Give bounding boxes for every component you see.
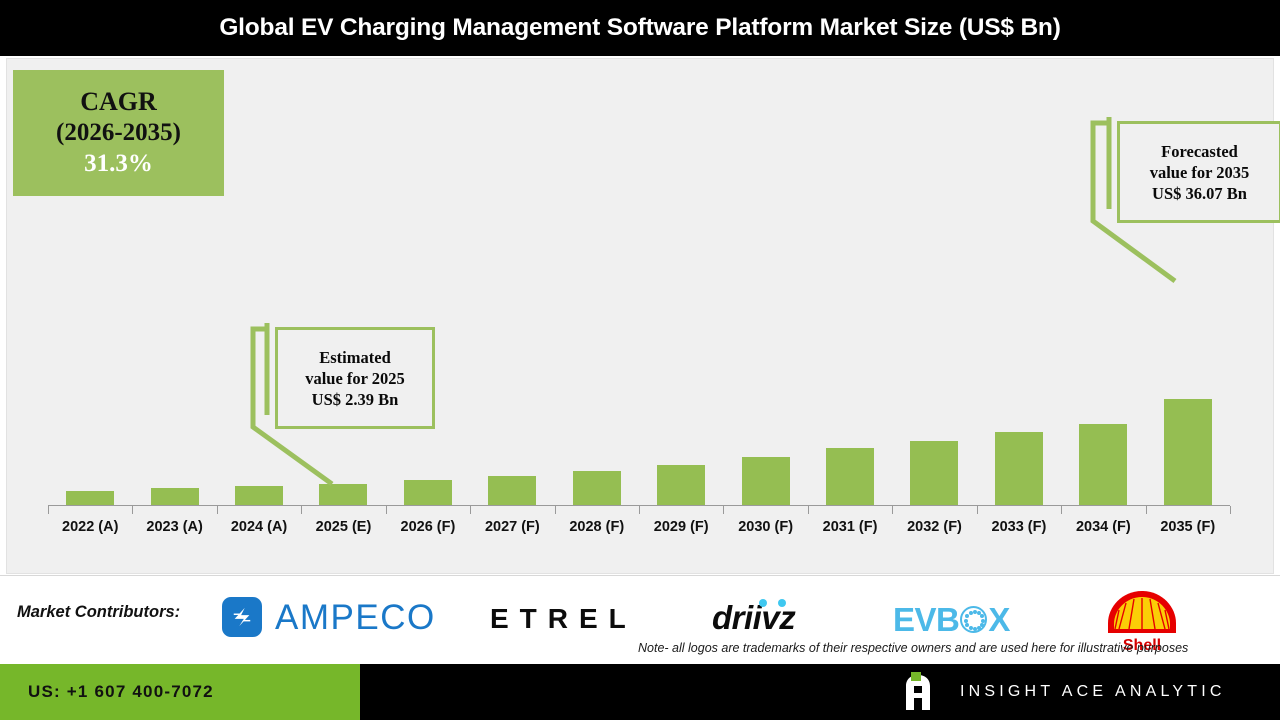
- x-axis-label: 2028 (F): [555, 519, 639, 535]
- callout-forecasted-line2: value for 2035: [1150, 162, 1250, 183]
- bar-slot: [132, 59, 216, 505]
- x-axis-label: 2031 (F): [808, 519, 892, 535]
- x-axis-label: 2024 (A): [217, 519, 301, 535]
- callout-forecasted-box: Forecasted value for 2035 US$ 36.07 Bn: [1117, 121, 1280, 223]
- lightning-bolt-icon: [222, 597, 262, 637]
- phone-number: US: +1 607 400-7072: [28, 682, 214, 702]
- bar-2028[interactable]: [573, 471, 621, 505]
- evbox-ring-dot: [980, 614, 984, 618]
- bar-2034[interactable]: [1079, 424, 1127, 505]
- x-axis-tick: [723, 506, 724, 514]
- logo-driivz-text: driivz: [712, 601, 795, 634]
- shell-pecten-icon: [1104, 589, 1180, 639]
- evbox-ring-dot: [964, 619, 968, 623]
- evbox-ring-dot: [973, 627, 977, 631]
- x-axis-tick: [132, 506, 133, 514]
- evbox-ring-dot: [981, 619, 985, 623]
- callout-forecasted-line3: US$ 36.07 Bn: [1152, 183, 1247, 204]
- bar-2022[interactable]: [66, 491, 114, 505]
- evbox-ring-dot: [977, 626, 981, 630]
- x-axis-label: 2027 (F): [470, 519, 554, 535]
- x-axis-tick: [892, 506, 893, 514]
- phone-block[interactable]: US: +1 607 400-7072: [0, 664, 360, 720]
- x-axis-label: 2034 (F): [1061, 519, 1145, 535]
- x-axis-labels: 2022 (A)2023 (A)2024 (A)2025 (E)2026 (F)…: [48, 519, 1230, 553]
- brand-a-glyph: [898, 672, 938, 712]
- x-axis-tick: [470, 506, 471, 514]
- x-axis-tick: [301, 506, 302, 514]
- x-axis-label: 2035 (F): [1146, 519, 1230, 535]
- logo-evbox-text: EVB X: [893, 603, 1010, 636]
- logo-evbox-suffix: X: [988, 603, 1010, 636]
- logo-driivz: driivz: [712, 601, 795, 634]
- bar-2024[interactable]: [235, 486, 283, 505]
- evbox-ring-dot: [969, 611, 973, 615]
- x-axis-tick: [1061, 506, 1062, 514]
- x-axis-tick: [1146, 506, 1147, 514]
- bar-2030[interactable]: [742, 457, 790, 505]
- bar-slot: [892, 59, 976, 505]
- bar-slot: [723, 59, 807, 505]
- bar-slot: [470, 59, 554, 505]
- x-axis-label: 2026 (F): [386, 519, 470, 535]
- insight-ace-logo-icon: [898, 672, 938, 712]
- evbox-dot-ring-icon: [960, 606, 987, 633]
- bar-2027[interactable]: [488, 476, 536, 505]
- callout-estimated-line1: Estimated: [319, 347, 391, 368]
- logo-evbox-prefix: EVB: [893, 603, 959, 636]
- x-axis-label: 2025 (E): [301, 519, 385, 535]
- bar-slot: [977, 59, 1061, 505]
- bar-slot: [808, 59, 892, 505]
- evbox-ring-dot: [969, 626, 973, 630]
- callout-forecasted-line1: Forecasted: [1161, 141, 1238, 162]
- x-axis-tick: [555, 506, 556, 514]
- logo-etrel: ETREL: [490, 605, 637, 633]
- bar-2032[interactable]: [910, 441, 958, 505]
- logo-etrel-text: ETREL: [490, 605, 637, 633]
- x-axis-tick: [386, 506, 387, 514]
- callout-estimated-line2: value for 2025: [305, 368, 405, 389]
- evbox-ring-dot: [980, 623, 984, 627]
- bar-series: [48, 59, 1230, 505]
- x-axis-label: 2029 (F): [639, 519, 723, 535]
- chart-panel: CAGR (2026-2035) 31.3% 2022 (A)2023 (A)2…: [6, 58, 1274, 574]
- x-axis-label: 2022 (A): [48, 519, 132, 535]
- evbox-ring-dot: [965, 614, 969, 618]
- callout-estimated-box: Estimated value for 2025 US$ 2.39 Bn: [275, 327, 435, 429]
- bar-2031[interactable]: [826, 448, 874, 505]
- trademark-note: Note- all logos are trademarks of their …: [638, 641, 1188, 655]
- bar-2023[interactable]: [151, 488, 199, 505]
- x-axis-tick: [217, 506, 218, 514]
- brand-block: INSIGHT ACE ANALYTIC: [898, 664, 1226, 720]
- brand-name: INSIGHT ACE ANALYTIC: [960, 683, 1226, 701]
- logo-ampeco: AMPECO: [222, 597, 436, 637]
- x-axis-tick: [977, 506, 978, 514]
- driivz-dot-1: [759, 599, 767, 607]
- title-bar: Global EV Charging Management Software P…: [0, 0, 1280, 56]
- bar-2029[interactable]: [657, 465, 705, 505]
- x-axis-tick: [639, 506, 640, 514]
- x-axis-label: 2023 (A): [132, 519, 216, 535]
- x-axis-label: 2030 (F): [723, 519, 807, 535]
- callout-forecasted-2035: Forecasted value for 2035 US$ 36.07 Bn: [1085, 121, 1280, 281]
- callout-estimated-2025: Estimated value for 2025 US$ 2.39 Bn: [247, 327, 442, 487]
- footer-bar: US: +1 607 400-7072 INSIGHT ACE ANALYTIC: [0, 664, 1280, 720]
- bar-2033[interactable]: [995, 432, 1043, 505]
- logo-ampeco-text: AMPECO: [275, 600, 436, 635]
- x-axis-tick: [808, 506, 809, 514]
- logo-evbox: EVB X: [893, 603, 1010, 636]
- bar-slot: [48, 59, 132, 505]
- x-axis-tick: [1230, 506, 1231, 514]
- driivz-dot-2: [778, 599, 786, 607]
- market-contributors-label: Market Contributors:: [17, 603, 180, 622]
- bar-2035[interactable]: [1164, 399, 1212, 505]
- callout-estimated-line3: US$ 2.39 Bn: [312, 389, 399, 410]
- x-axis-label: 2033 (F): [977, 519, 1061, 535]
- bar-slot: [639, 59, 723, 505]
- page-title: Global EV Charging Management Software P…: [219, 14, 1060, 42]
- x-axis-tick: [48, 506, 49, 514]
- bolt-glyph: [231, 606, 253, 628]
- x-axis-label: 2032 (F): [892, 519, 976, 535]
- bar-slot: [555, 59, 639, 505]
